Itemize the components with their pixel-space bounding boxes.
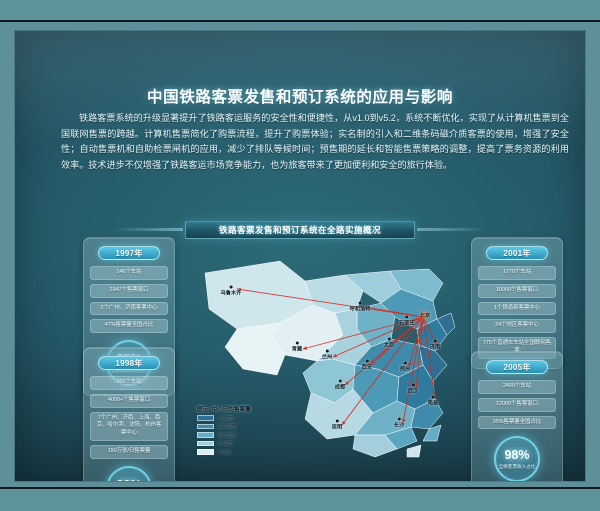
map-legend-row: 10-15万 (197, 432, 275, 439)
card-donut: 98% 全路客票收入占比 (494, 436, 540, 482)
card-stat-list: 1770个车站10000个售票窗口1个铁道部客票中心24个地区客票中心775个直… (478, 266, 556, 359)
map-legend: 图示: 中心日均售票量 ＞30万15-30万10-15万5-10万＜5万 (197, 405, 275, 458)
card-stat-item: 1770个车站 (478, 266, 556, 280)
page-title: 中国铁路客票发售和预订系统的应用与影响 (15, 85, 585, 107)
bottom-frame-band (0, 487, 600, 511)
card-year-label: 1997年 (98, 246, 160, 260)
card-stat-item: 2947个售票窗口 (90, 284, 168, 298)
map-legend-title: 图示: 中心日均售票量 (197, 405, 275, 413)
card-year-label: 1998年 (98, 356, 160, 370)
card-donut: 90% 全路客票收入占比 (106, 466, 152, 482)
card-stat-list: 146个车站2947个售票窗口2个广州、济南客票中心47%售票量全国占比 (90, 266, 168, 333)
card-year-label: 2005年 (486, 360, 548, 374)
card-stat-item: 150万张/日售票量 (90, 445, 168, 459)
map-legend-label: 5-10万 (218, 440, 233, 447)
card-2001[interactable]: 2001年 1770个车站10000个售票窗口1个铁道部客票中心24个地区客票中… (471, 237, 563, 369)
map-legend-row: 5-10万 (197, 440, 275, 447)
card-stat-item: 10000个售票窗口 (478, 284, 556, 298)
card-2005[interactable]: 2005年 2400个车站12000个售票窗口95%售票量全国占比 98% 全路… (471, 351, 563, 482)
map-legend-swatch (197, 415, 214, 421)
donut-percent: 90% (116, 479, 141, 482)
poster-root: 中国铁路客票发售和预订系统的应用与影响 铁路客票系统的升级显著提升了铁路客运服务… (0, 0, 600, 511)
map-legend-swatch (197, 441, 214, 447)
card-stat-item: 12000个售票窗口 (478, 398, 556, 412)
card-stat-list: 2400个车站12000个售票窗口95%售票量全国占比 (478, 380, 556, 429)
card-year-label: 2001年 (486, 246, 548, 260)
banner-wing-left (113, 228, 183, 231)
card-stat-item: 146个车站 (90, 266, 168, 280)
map-legend-swatch (197, 449, 214, 455)
intro-paragraph: 铁路客票系统的升级显著提升了铁路客运服务的安全性和便捷性，从v1.0到v5.2，… (61, 111, 569, 174)
china-map: ★ 图示: 中心日均售票量 ＞30万15-30万10-15万5-10万＜5万 乌… (185, 243, 455, 465)
card-stat-item: 366个车站 (90, 376, 168, 390)
card-1998[interactable]: 1998年 366个车站4000+个售票窗口7个广州、济南、上海、南京、哈尔滨、… (83, 347, 175, 482)
map-legend-row: ＜5万 (197, 449, 275, 456)
donut-label: 全路客票收入占比 (499, 464, 536, 470)
map-legend-row: 15-30万 (197, 423, 275, 430)
card-stat-item: 47%售票量全国占比 (90, 319, 168, 333)
map-legend-label: 15-30万 (218, 423, 236, 430)
beijing-hub-star: ★ (420, 309, 431, 321)
map-legend-label: 10-15万 (218, 432, 236, 439)
card-stat-item: 24个地区客票中心 (478, 319, 556, 333)
donut-percent: 98% (504, 449, 529, 462)
map-legend-rows: ＞30万15-30万10-15万5-10万＜5万 (197, 415, 275, 456)
card-stat-item: 2400个车站 (478, 380, 556, 394)
map-legend-label: ＜5万 (218, 449, 231, 456)
card-stat-item: 7个广州、济南、上海、南京、哈尔滨、沈阳、杭州客票中心 (90, 412, 168, 441)
section-banner-plate: 铁路客票发售和预订系统在全路实施概况 (185, 221, 415, 239)
map-legend-swatch (197, 432, 214, 438)
card-stat-item: 95%售票量全国占比 (478, 416, 556, 430)
card-stat-item: 4000+个售票窗口 (90, 394, 168, 408)
map-legend-row: ＞30万 (197, 415, 275, 422)
top-frame-band (0, 0, 600, 22)
card-stat-item: 2个广州、济南客票中心 (90, 302, 168, 316)
section-banner-label: 铁路客票发售和预订系统在全路实施概况 (219, 224, 381, 236)
poster-stage: 中国铁路客票发售和预订系统的应用与影响 铁路客票系统的升级显著提升了铁路客运服务… (14, 30, 586, 482)
banner-wing-right (417, 228, 487, 231)
map-legend-swatch (197, 424, 214, 430)
card-stat-list: 366个车站4000+个售票窗口7个广州、济南、上海、南京、哈尔滨、沈阳、杭州客… (90, 376, 168, 459)
card-stat-item: 1个铁道部客票中心 (478, 302, 556, 316)
section-banner: 铁路客票发售和预订系统在全路实施概况 (185, 221, 415, 239)
map-legend-label: ＞30万 (218, 415, 234, 422)
